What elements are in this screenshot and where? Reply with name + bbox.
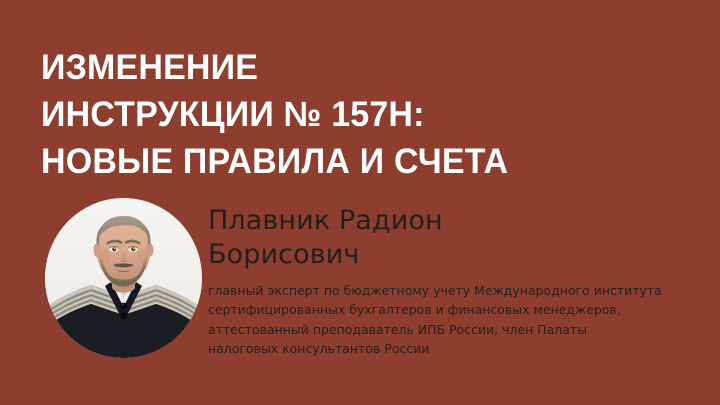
speaker-info: Плавник Радион Борисович главный эксперт… — [208, 204, 708, 359]
speaker-avatar — [45, 198, 202, 358]
slide-title: ИЗМЕНЕНИЕ ИНСТРУКЦИИ № 157Н: НОВЫЕ ПРАВИ… — [41, 44, 661, 185]
speaker-description-line-4: налоговых консультантов России — [208, 339, 708, 358]
speaker-description-line-3: аттестованный преподаватель ИПБ России, … — [208, 320, 708, 339]
speaker-name: Плавник Радион Борисович — [208, 204, 708, 272]
speaker-name-line-1: Плавник Радион — [208, 204, 708, 238]
title-line-1: ИЗМЕНЕНИЕ — [41, 44, 642, 91]
speaker-description: главный эксперт по бюджетному учету Межд… — [208, 281, 708, 359]
presentation-slide: ИЗМЕНЕНИЕ ИНСТРУКЦИИ № 157Н: НОВЫЕ ПРАВИ… — [0, 0, 720, 405]
title-line-3: НОВЫЕ ПРАВИЛА И СЧЕТА — [41, 138, 642, 185]
speaker-portrait-photo — [45, 198, 202, 358]
title-line-2: ИНСТРУКЦИИ № 157Н: — [41, 91, 642, 138]
speaker-name-line-2: Борисович — [208, 238, 708, 272]
speaker-description-line-1: главный эксперт по бюджетному учету Межд… — [208, 281, 708, 300]
speaker-description-line-2: сертифицированных бухгалтеров и финансов… — [208, 300, 708, 319]
